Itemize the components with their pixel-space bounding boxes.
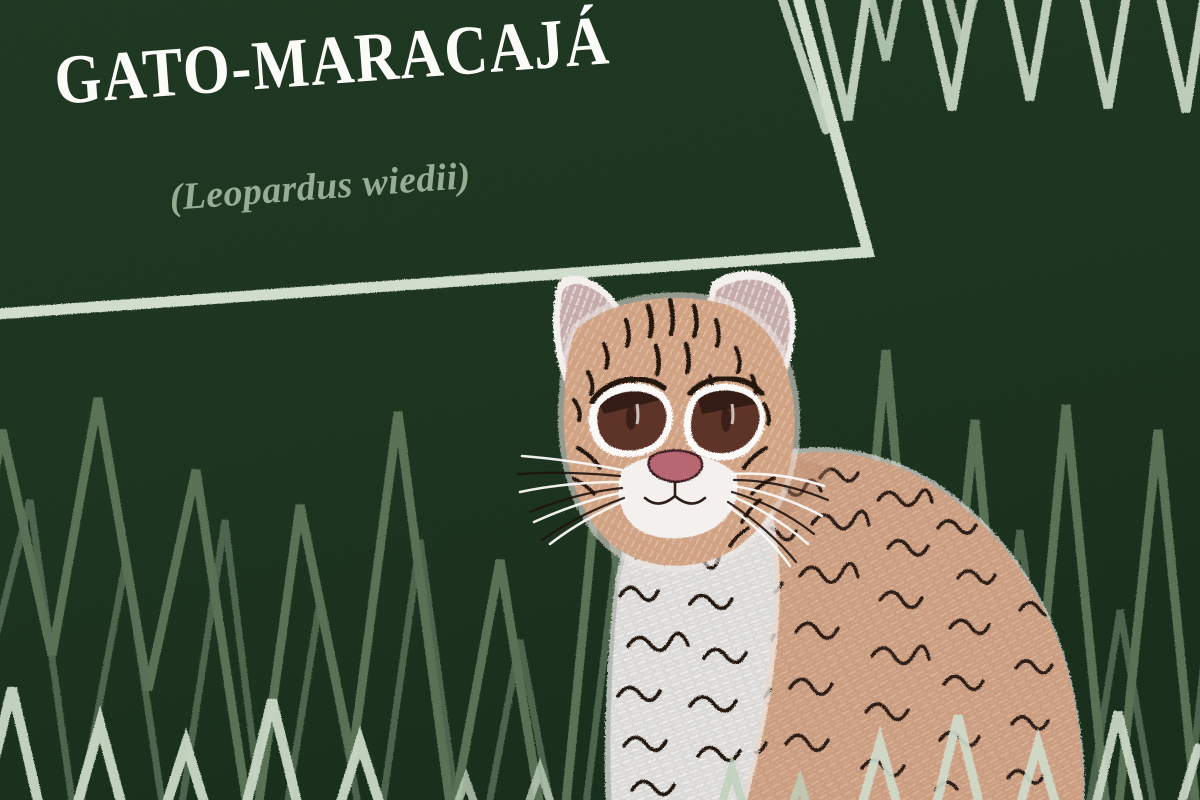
poster-canvas: GATO-MARACAJÁ (Leopardus wiedii) xyxy=(0,0,1200,800)
grass-front-zigzag xyxy=(0,0,1200,800)
